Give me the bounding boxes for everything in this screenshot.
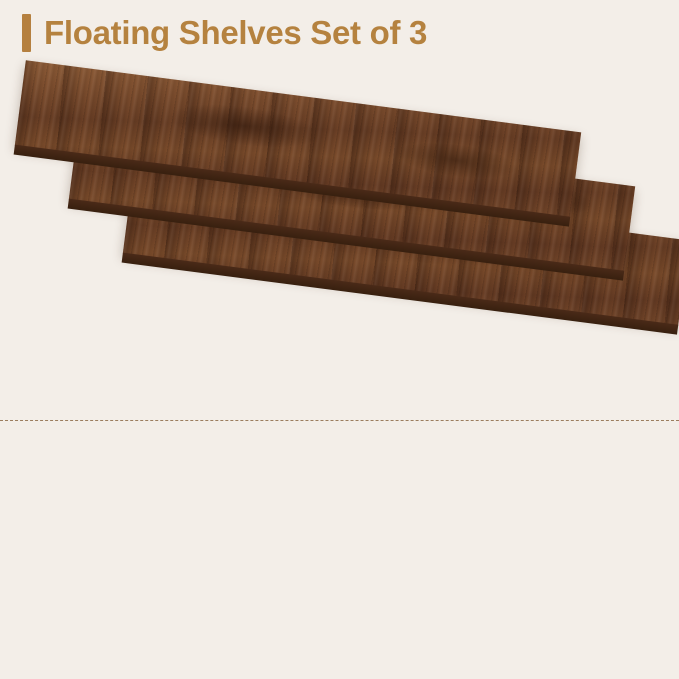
product-infographic: Floating Shelves Set of 3 Assembly Instr… [0,0,679,679]
hero-product-image [0,78,679,408]
included-parts-section: Assembly Instruction FLOATING SHELVES Th… [0,420,679,679]
wood-grain-knot [167,97,321,154]
wood-grain-knot [395,137,518,184]
title-accent-bar [22,14,31,52]
title-text: Floating Shelves Set of 3 [44,14,427,52]
page-title: Floating Shelves Set of 3 [22,14,427,52]
